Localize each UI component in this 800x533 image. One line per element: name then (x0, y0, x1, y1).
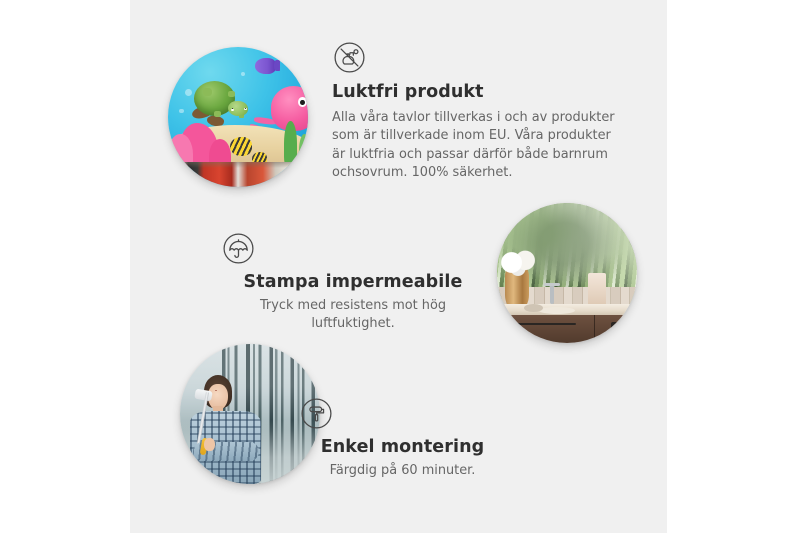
umbrella-icon (222, 232, 484, 265)
faucet-icon (550, 284, 554, 304)
feature-title: Luktfri produkt (332, 82, 632, 102)
paint-roller-icon (300, 397, 505, 430)
feature-description: Tryck med resistens mot hög luftfuktighe… (222, 297, 484, 334)
feature-easy-mounting: Enkel montering Färgdig på 60 minuter. (300, 397, 505, 480)
feature-title: Stampa impermeabile (222, 272, 484, 292)
feature-description: Färgdig på 60 minuter. (300, 462, 505, 480)
turtle-icon (190, 81, 246, 129)
forest-painter-medallion (180, 344, 320, 484)
white-flowers (498, 249, 537, 276)
underwater-cartoon-medallion (168, 47, 308, 187)
yellow-fish-icon (230, 137, 252, 157)
sink-basin (539, 307, 575, 314)
feature-odour-free: Luktfri produkt Alla våra tavlor tillver… (332, 41, 632, 182)
cabinet-seam (594, 315, 596, 343)
feature-infographic: Luktfri produkt Alla våra tavlor tillver… (0, 0, 800, 533)
feature-description: Alla våra tavlor tillverkas i och av pro… (332, 109, 615, 182)
photo-strip-overlay (168, 162, 308, 187)
feature-waterproof: Stampa impermeabile Tryck med resistens … (222, 232, 484, 334)
seaweed-icon (284, 121, 297, 166)
painter-woman (188, 375, 266, 484)
bathroom-vanity-medallion (497, 203, 637, 343)
purple-fish-icon (255, 58, 276, 73)
paint-roller-head (194, 389, 213, 402)
feature-title: Enkel montering (300, 437, 505, 457)
no-fragrance-icon (333, 41, 632, 74)
wood-cabinet (497, 315, 637, 343)
